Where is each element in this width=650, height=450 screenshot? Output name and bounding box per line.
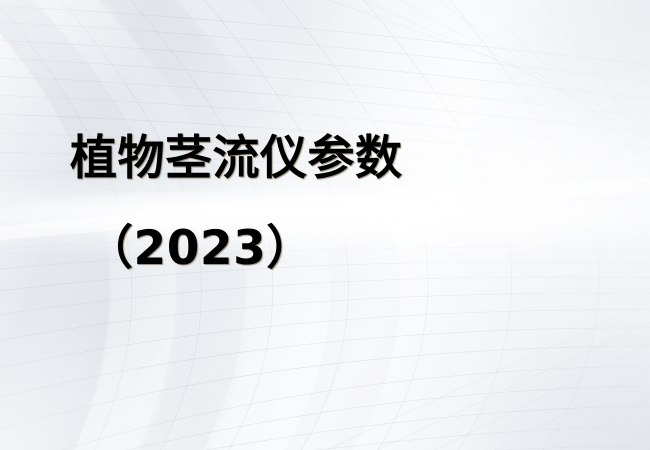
slide-title-main: 植物茎流仪参数 xyxy=(70,135,403,182)
slide-title-year: （2023） xyxy=(86,225,314,272)
title-slide: 植物茎流仪参数 （2023） xyxy=(0,0,650,450)
title-text-block: 植物茎流仪参数 （2023） xyxy=(0,0,650,450)
